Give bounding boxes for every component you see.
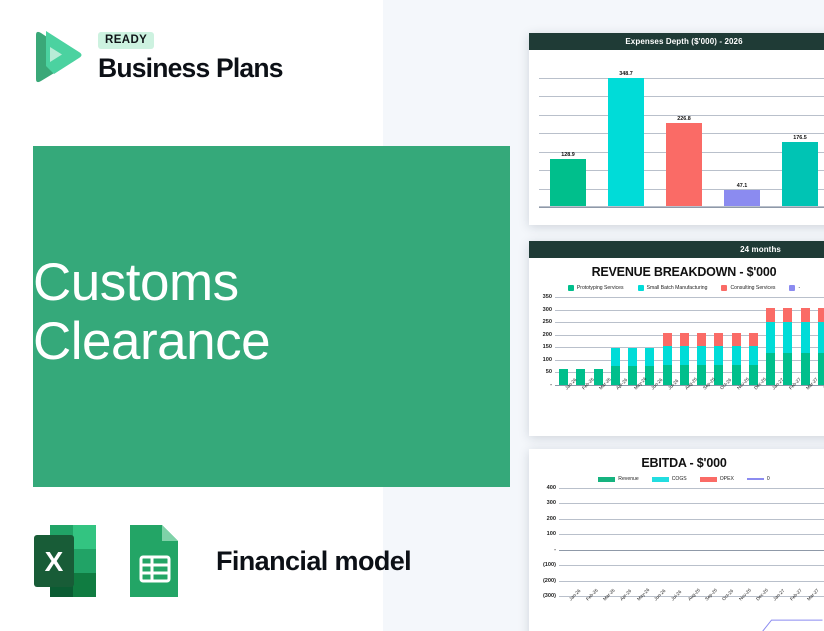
bar-slot [572,297,589,385]
y-axis-tick-label: (100) [543,562,556,568]
legend-item: Small Batch Manufacturing [638,285,708,291]
bar-slot [693,297,710,385]
brand-title: Business Plans [98,53,283,84]
bar-slot [728,297,745,385]
stacked-bar [767,488,777,596]
y-axis-tick-label: (300) [543,593,556,599]
legend-label: COGS [672,476,687,482]
stacked-bar [801,488,811,596]
stacked-bar [648,488,658,596]
stacked-bar [749,297,758,385]
ebitda-plot-area: 400300200100-(100)(200)(300) [559,488,824,596]
bar-slot [710,297,727,385]
brand-lockup: READY Business Plans [24,26,283,88]
bar-slot [729,488,746,596]
bar-segment [801,353,810,385]
bar-segment [697,365,706,385]
ebitda-chart-legend: RevenueCOGSOPEX0 [529,476,824,482]
bar-slot: 226.8 [655,59,713,207]
expenses-bars: 128.9348.7226.847.1176.5 [539,59,824,207]
y-axis-tick-label: 200 [543,332,552,338]
gridline [539,207,824,208]
bar-slot [763,488,780,596]
bar-slot [555,297,572,385]
y-axis-tick-label: 50 [546,369,552,375]
chart-card-ebitda: EBITDA - $'000 RevenueCOGSOPEX0 40030020… [529,449,824,631]
bar-slot [627,488,644,596]
stacked-bar [801,297,810,385]
bar-segment [732,333,741,346]
legend-swatch-icon [638,285,644,291]
bar-segment [628,366,637,385]
bar-segment [697,346,706,365]
stacked-bar [697,297,706,385]
y-axis-tick-label: 300 [543,307,552,313]
legend-item: 0 [747,476,770,482]
bar-slot [641,297,658,385]
legend-label: Revenue [618,476,638,482]
bar-slot: 47.1 [713,59,771,207]
bar [782,142,818,207]
bar-segment [783,308,792,322]
legend-item: Revenue [598,476,638,482]
stacked-bar [611,297,620,385]
ebitda-x-axis-labels: Jan-26Feb-26Mar-26Apr-26May-26Jun-26Jul-… [559,596,824,622]
chart-card-revenue: 24 months REVENUE BREAKDOWN - $'000 Prot… [529,241,824,436]
bar-segment [749,346,758,365]
stacked-bar [614,488,624,596]
revenue-chart-legend: Prototyping ServicesSmall Batch Manufact… [529,285,824,291]
bar-slot [593,488,610,596]
stacked-bar [576,297,585,385]
bar-slot [610,488,627,596]
stacked-bar [783,297,792,385]
legend-label: Small Batch Manufacturing [647,285,708,291]
bar-segment [766,353,775,385]
poster-canvas: READY Business Plans Customs Clearance X [0,0,824,631]
bar-slot [746,488,763,596]
expenses-chart-banner: Expenses Depth ($'000) - 2026 [529,33,824,50]
ready-badge: READY [98,32,154,49]
bar-slot [644,488,661,596]
legend-swatch-icon [747,478,764,480]
stacked-bar [645,297,654,385]
bar-segment [818,308,824,322]
bar-slot [780,488,797,596]
y-axis-tick-label: 150 [543,344,552,350]
legend-swatch-icon [652,477,669,482]
y-axis-tick-label: 100 [547,531,556,537]
bar-slot [814,297,824,385]
bar-slot [695,488,712,596]
legend-label: Consulting Services [730,285,775,291]
stacked-bar [766,297,775,385]
bar-slot [814,488,824,596]
bar-slot [624,297,641,385]
bar-value-label: 128.9 [561,152,575,158]
bar-segment [680,346,689,365]
legend-item: Consulting Services [721,285,775,291]
bar-slot: 128.9 [539,59,597,207]
bar [550,159,586,207]
bar-segment [714,346,723,365]
bar-segment [714,333,723,346]
bar-slot [797,488,814,596]
bar-segment [611,348,620,366]
bar-segment [818,322,824,353]
y-axis-tick-label: 300 [547,500,556,506]
bar-segment [680,333,689,346]
bar-slot [797,297,814,385]
stacked-bar [597,488,607,596]
stacked-bar [631,488,641,596]
play-triangle-logo-icon [24,26,86,88]
y-axis-tick-label: 400 [547,485,556,491]
brand-text: READY Business Plans [98,30,283,84]
bar-slot: 176.5 [771,59,824,207]
bar-slot: 348.7 [597,59,655,207]
stacked-bar [818,297,824,385]
legend-item: OPEX [700,476,734,482]
stacked-bar [665,488,675,596]
y-axis-tick-label: - [550,382,552,388]
legend-item: Prototyping Services [568,285,624,291]
stacked-bar [563,488,573,596]
bar-slot [712,488,729,596]
revenue-chart-title: REVENUE BREAKDOWN - $'000 [529,265,824,279]
stacked-bar [594,297,603,385]
stacked-bar [818,488,824,596]
svg-text:X: X [45,546,64,577]
stacked-bar [680,297,689,385]
bar-segment [663,346,672,365]
stacked-bar [628,297,637,385]
bar-slot [607,297,624,385]
legend-swatch-icon [598,477,615,482]
bar-slot [576,488,593,596]
bar-segment [766,322,775,353]
bar-segment [628,348,637,366]
bar-slot [659,297,676,385]
ebitda-chart-title: EBITDA - $'000 [529,456,824,470]
chart-card-expenses: Expenses Depth ($'000) - 2026 128.9348.7… [529,33,824,225]
bar-segment [766,308,775,322]
bar-slot [559,488,576,596]
stacked-bar [784,488,794,596]
y-axis-tick-label: (200) [543,578,556,584]
legend-item: - [789,285,800,291]
bar-segment [783,322,792,353]
expenses-plot-area: 128.9348.7226.847.1176.5 [539,59,824,207]
bar-slot [590,297,607,385]
stacked-bar [732,297,741,385]
ebitda-bars [559,488,824,596]
bar [724,190,760,207]
bar-value-label: 226.8 [677,116,691,122]
excel-icon: X [28,521,104,601]
bar-slot [779,297,796,385]
stacked-bar [699,488,709,596]
bar [608,78,644,207]
stacked-bar [580,488,590,596]
bar-segment [749,333,758,346]
bar-value-label: 348.7 [619,71,633,77]
revenue-plot-area: 35030025020015010050- [555,297,824,385]
bar-segment [645,348,654,366]
page-title: Customs Clearance [33,253,473,372]
google-sheets-icon [116,521,192,601]
bar-slot [678,488,695,596]
stacked-bar [682,488,692,596]
y-axis-tick-label: 250 [543,319,552,325]
stacked-bar [716,488,726,596]
y-axis-tick-label: 100 [543,357,552,363]
y-axis-tick-label: 350 [543,294,552,300]
stacked-bar [750,488,760,596]
bar-slot [745,297,762,385]
legend-item: COGS [652,476,687,482]
legend-label: 0 [767,476,770,482]
legend-label: OPEX [720,476,734,482]
revenue-chart-banner: 24 months [529,241,824,258]
y-axis-tick-label: 200 [547,516,556,522]
revenue-x-axis-labels: Jan-26Feb-26Mar-26Apr-26May-26Jun-26Jul-… [555,385,824,411]
bar-slot [661,488,678,596]
bar-segment [697,333,706,346]
bar-segment [732,346,741,365]
bar-value-label: 176.5 [793,135,807,141]
legend-swatch-icon [789,285,795,291]
legend-label: - [798,285,800,291]
legend-swatch-icon [568,285,574,291]
bar-slot [762,297,779,385]
y-axis-tick-label: - [554,547,556,553]
expenses-axis-baseline [539,206,824,207]
legend-swatch-icon [700,477,717,482]
legend-swatch-icon [721,285,727,291]
legend-label: Prototyping Services [577,285,624,291]
stacked-bar [733,488,743,596]
file-format-row: X Financial model [28,521,411,601]
stacked-bar [559,297,568,385]
bar-segment [801,308,810,322]
bar-segment [801,322,810,353]
stacked-bar [663,297,672,385]
revenue-bars [555,297,824,385]
bar-slot [676,297,693,385]
file-format-label: Financial model [216,546,411,577]
bar-value-label: 47.1 [737,183,748,189]
bar-segment [663,333,672,346]
stacked-bar [714,297,723,385]
bar [666,123,702,207]
